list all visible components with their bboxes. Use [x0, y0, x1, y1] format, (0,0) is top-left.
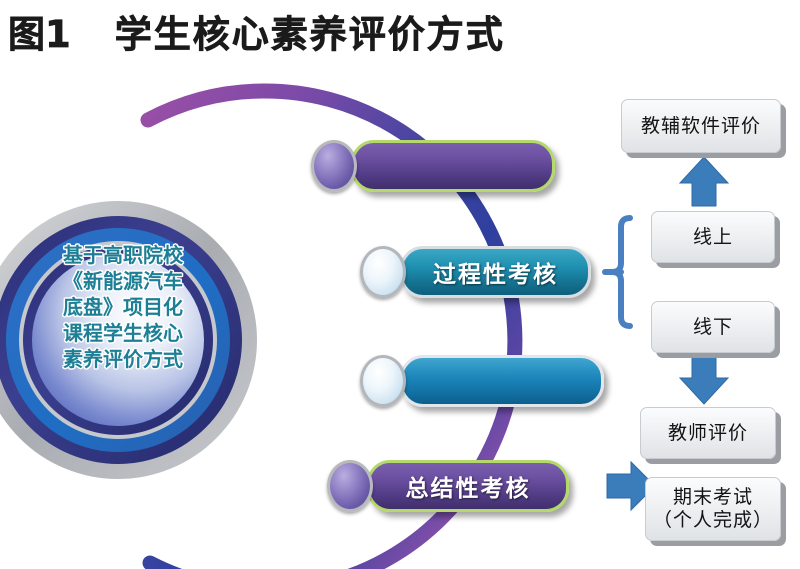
core-line-2: 《新能源汽车	[38, 268, 208, 294]
branch-pill-4[interactable]: 总结性考核	[367, 460, 569, 512]
branch-bullet-4	[327, 460, 373, 512]
branch-row-3[interactable]	[360, 355, 604, 407]
branch-row-2[interactable]: 过程性考核	[360, 246, 591, 298]
core-line-3: 底盘》项目化	[38, 294, 208, 320]
outcome-box-online[interactable]: 线上	[651, 211, 775, 263]
core-line-5: 素养评价方式	[38, 346, 208, 372]
core-line-1: 基于高职院校	[38, 242, 208, 268]
branch-pill-1[interactable]	[351, 140, 555, 192]
branch-label-4: 总结性考核	[406, 469, 531, 503]
branch-label-2: 过程性考核	[433, 255, 558, 289]
outcome-label-teacher: 教师评价	[668, 422, 748, 445]
branch-bullet-2	[360, 246, 406, 298]
curly-brace-process	[612, 218, 630, 326]
outcome-box-finalexam[interactable]: 期末考试 （个人完成）	[645, 477, 781, 541]
branch-pill-2[interactable]: 过程性考核	[400, 246, 591, 298]
figure-number: 图1	[8, 4, 71, 58]
branch-bullet-3	[360, 355, 406, 407]
outcome-label-finalexam: 期末考试 （个人完成）	[653, 486, 773, 532]
outcome-box-offline[interactable]: 线下	[651, 301, 775, 353]
outcome-label-online: 线上	[693, 226, 733, 249]
up-arrow-online-to-software	[680, 157, 728, 206]
branch-row-1[interactable]	[311, 140, 555, 192]
outcome-label-software: 教辅软件评价	[641, 115, 761, 138]
outcome-box-software[interactable]: 教辅软件评价	[621, 99, 781, 153]
figure-title: 学生核心素养评价方式	[115, 4, 505, 58]
figure-root: 图1 学生核心素养评价方式	[0, 0, 800, 569]
figure-title-bar: 图1 学生核心素养评价方式	[0, 0, 800, 62]
branch-bullet-1	[311, 140, 357, 192]
down-arrow-offline-to-teacher	[680, 355, 728, 404]
outcome-label-finalexam-line2: （个人完成）	[653, 509, 773, 532]
core-concept-text: 基于高职院校 《新能源汽车 底盘》项目化 课程学生核心 素养评价方式	[38, 242, 208, 372]
core-line-4: 课程学生核心	[38, 320, 208, 346]
outcome-label-offline: 线下	[693, 316, 733, 339]
outcome-label-finalexam-line1: 期末考试	[653, 486, 773, 509]
branch-pill-3[interactable]	[400, 355, 604, 407]
branch-row-4[interactable]: 总结性考核	[327, 460, 569, 512]
outcome-box-teacher[interactable]: 教师评价	[640, 407, 776, 459]
